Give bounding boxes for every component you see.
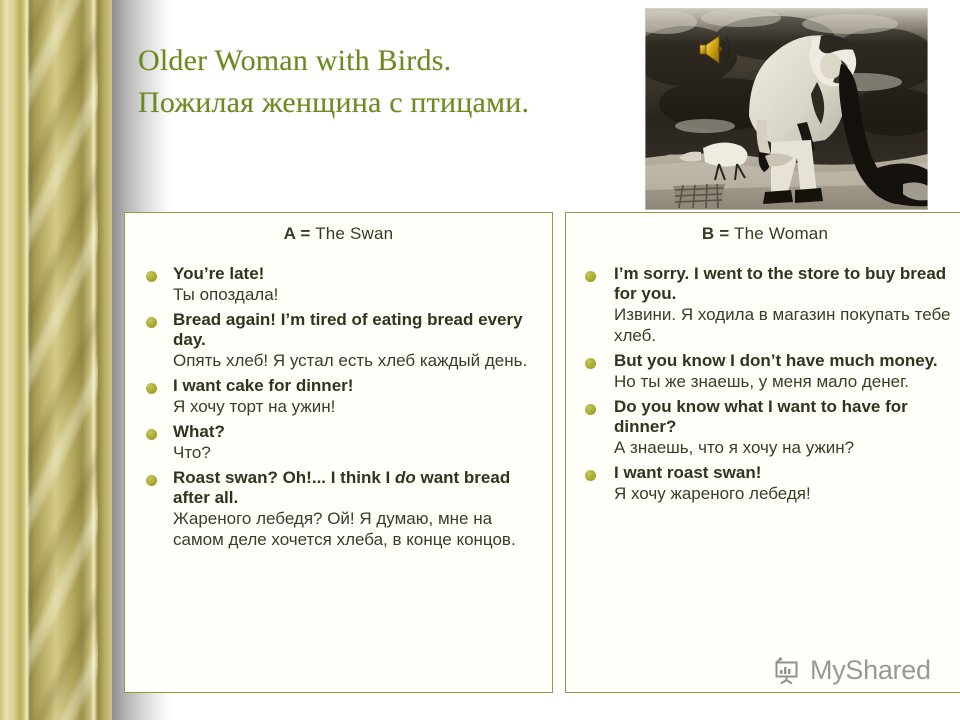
list-item: Bread again! I’m tired of eating bread e… [135,310,546,371]
column-a-value: The Swan [315,224,393,243]
line-english: You’re late! [173,264,546,284]
list-item: I’m sorry. I went to the store to buy br… [574,264,960,346]
list-item: I want cake for dinner! Я хочу торт на у… [135,376,546,417]
photo-older-woman-with-birds [645,8,928,210]
dialogue-column-b: B = The Woman I’m sorry. I went to the s… [565,212,960,693]
column-b-value: The Woman [734,224,828,243]
column-b-line-list: I’m sorry. I went to the store to buy br… [566,244,960,504]
list-item: Do you know what I want to have for dinn… [574,397,960,458]
title-line-ru: Пожилая женщина с птицами. [138,82,698,124]
list-item: You’re late! Ты опоздала! [135,264,546,305]
line-russian: Опять хлеб! Я устал есть хлеб каждый ден… [173,350,546,371]
bullet-icon [146,475,157,486]
line-russian: Извини. Я ходила в магазин покупать тебе… [614,304,960,346]
bullet-icon [585,470,596,481]
column-a-heading: A = The Swan [125,213,552,244]
list-item: I want roast swan! Я хочу жареного лебед… [574,463,960,504]
line-english-part-1: Roast swan? Oh!... I think I [173,468,395,487]
title-line-en: Older Woman with Birds. [138,40,698,82]
line-english: But you know I don’t have much money. [614,351,960,371]
list-item: What? Что? [135,422,546,463]
line-russian: Ты опоздала! [173,284,546,305]
line-russian: Я хочу торт на ужин! [173,396,546,417]
line-russian: Что? [173,442,546,463]
line-russian: Жареного лебедя? Ой! Я думаю, мне на сам… [173,508,546,550]
bullet-icon [146,317,157,328]
page-title: Older Woman with Birds. Пожилая женщина … [138,40,698,124]
line-english: Bread again! I’m tired of eating bread e… [173,310,546,350]
watermark-text: MyShared [810,655,931,686]
bullet-icon [146,271,157,282]
bullet-icon [585,404,596,415]
speaker-sound-icon[interactable] [698,32,736,66]
bullet-icon [585,271,596,282]
column-b-heading: B = The Woman [566,213,960,244]
line-english-emphasis: do [395,468,416,487]
bullet-icon [146,383,157,394]
column-a-label: A = [284,224,311,243]
dialogue-column-a: A = The Swan You’re late! Ты опоздала! B… [124,212,553,693]
line-english: I want roast swan! [614,463,960,483]
line-russian: Но ты же знаешь, у меня мало денег. [614,371,960,392]
line-russian: Я хочу жареного лебедя! [614,483,960,504]
bullet-icon [585,358,596,369]
slide-canvas: Older Woman with Birds. Пожилая женщина … [0,0,960,720]
gold-rope-border [0,0,112,720]
line-english: Do you know what I want to have for dinn… [614,397,960,437]
rope-twist-shadow [28,0,98,720]
line-english: I want cake for dinner! [173,376,546,396]
bullet-icon [146,429,157,440]
column-a-line-list: You’re late! Ты опоздала! Bread again! I… [125,244,552,550]
column-b-label: B = [702,224,730,243]
list-item: But you know I don’t have much money. Но… [574,351,960,392]
line-english-parts: Roast swan? Oh!... I think I do want bre… [173,468,546,508]
line-english: What? [173,422,546,442]
line-russian: А знаешь, что я хочу на ужин? [614,437,960,458]
presentation-board-icon [772,656,802,686]
watermark: MyShared [772,655,931,686]
list-item: Roast swan? Oh!... I think I do want bre… [135,468,546,550]
line-english: I’m sorry. I went to the store to buy br… [614,264,960,304]
